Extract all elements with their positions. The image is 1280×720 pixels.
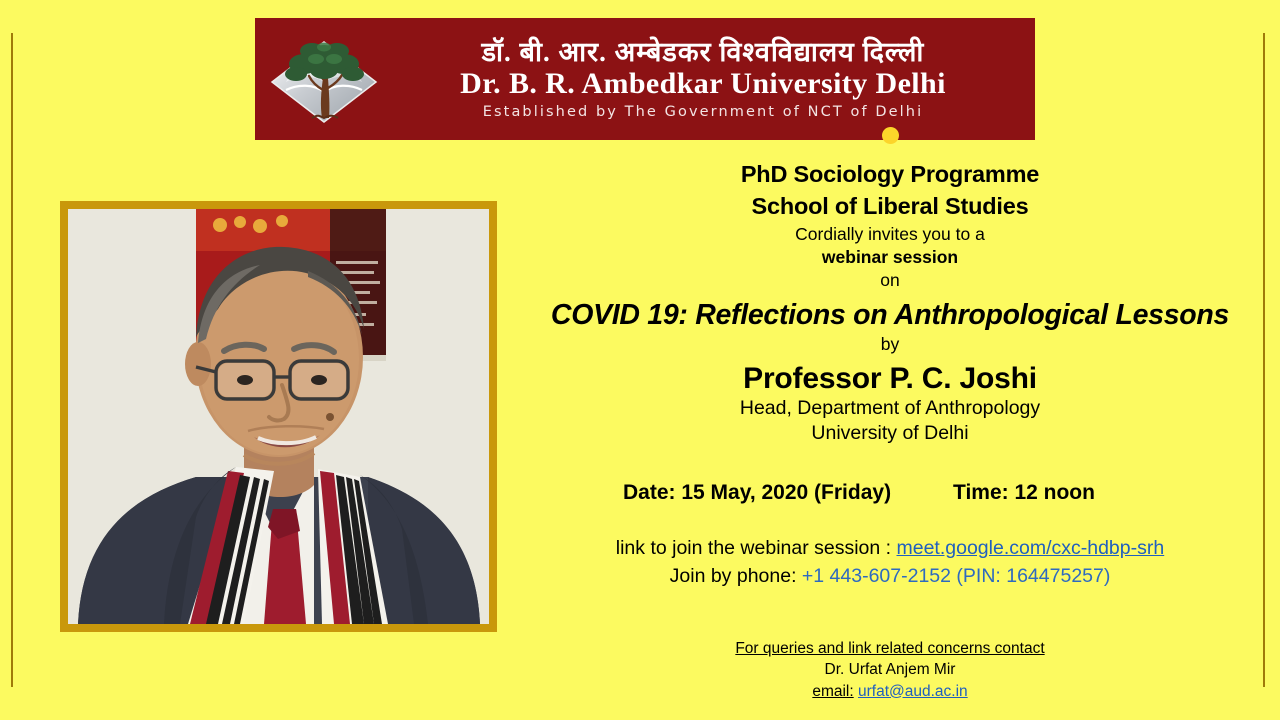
banner-english-title: Dr. B. R. Ambedkar University Delhi — [385, 68, 1021, 100]
by-label: by — [520, 333, 1260, 356]
programme-title: PhD Sociology Programme — [520, 158, 1260, 190]
speaker-photo — [68, 209, 489, 624]
banner-text-block: डॉ. बी. आर. अम्बेडकर विश्वविद्यालय दिल्ल… — [385, 38, 1035, 121]
webinar-title: COVID 19: Reflections on Anthropological… — [520, 299, 1260, 332]
contact-name: Dr. Urfat Anjem Mir — [520, 659, 1260, 680]
university-logo-icon — [263, 24, 385, 134]
banner-tagline: Established by The Government of NCT of … — [385, 105, 1021, 120]
speaker-role: Head, Department of Anthropology — [520, 396, 1260, 422]
join-details: link to join the webinar session : meet.… — [520, 535, 1260, 590]
speaker-name: Professor P. C. Joshi — [520, 362, 1260, 396]
event-type-label: webinar session — [520, 246, 1260, 269]
phone-number[interactable]: +1 443-607-2152 (PIN: 164475257) — [802, 565, 1110, 587]
phone-row: Join by phone: +1 443-607-2152 (PIN: 164… — [520, 563, 1260, 591]
schedule-row: Date: 15 May, 2020 (Friday) Time: 12 noo… — [520, 481, 1260, 505]
speaker-affiliation: University of Delhi — [520, 421, 1260, 447]
left-edge-rule — [11, 33, 13, 687]
cordially-line: Cordially invites you to a — [520, 223, 1260, 246]
banner-hindi-title: डॉ. बी. आर. अम्बेडकर विश्वविद्यालय दिल्ल… — [385, 38, 1021, 67]
meet-link-label: link to join the webinar session : — [616, 537, 897, 559]
email-address-link[interactable]: urfat@aud.ac.in — [858, 683, 968, 700]
event-time: Time: 12 noon — [953, 481, 1203, 505]
school-title: School of Liberal Studies — [520, 190, 1260, 222]
queries-line: For queries and link related concerns co… — [520, 638, 1260, 659]
meet-link[interactable]: meet.google.com/cxc-hdbp-srh — [897, 537, 1165, 559]
speaker-photo-frame — [60, 201, 497, 632]
phone-label: Join by phone: — [670, 565, 802, 587]
meet-link-row: link to join the webinar session : meet.… — [520, 535, 1260, 563]
right-edge-rule — [1263, 33, 1265, 687]
email-label: email: — [812, 683, 853, 700]
invitation-content: PhD Sociology Programme School of Libera… — [520, 158, 1260, 702]
event-date: Date: 15 May, 2020 (Friday) — [623, 481, 953, 505]
webinar-poster: डॉ. बी. आर. अम्बेडकर विश्वविद्यालय दिल्ल… — [0, 0, 1280, 720]
university-header-banner: डॉ. बी. आर. अम्बेडकर विश्वविद्यालय दिल्ल… — [255, 18, 1035, 140]
on-label: on — [520, 269, 1260, 292]
contact-footer: For queries and link related concerns co… — [520, 638, 1260, 702]
email-row: email: urfat@aud.ac.in — [520, 681, 1260, 702]
banner-marker-dot — [882, 127, 899, 144]
